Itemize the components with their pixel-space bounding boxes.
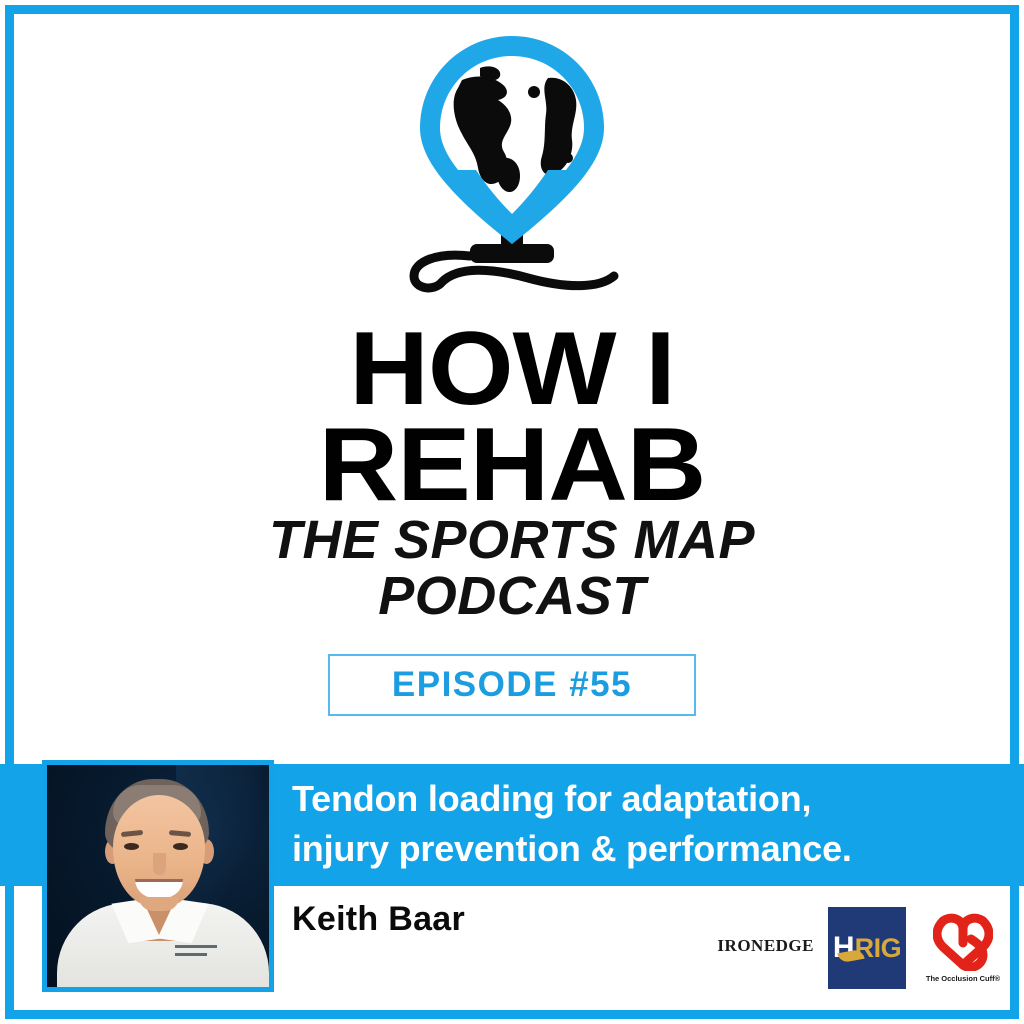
hrig-logo: H RIG	[828, 907, 906, 989]
podcast-subtitle: THE SPORTS MAP PODCAST	[0, 512, 1024, 624]
guest-shirt-crest	[175, 941, 217, 961]
occlusion-cuff-logo: The Occlusion Cuff®	[920, 902, 1006, 994]
episode-title-line-2: injury prevention & performance.	[292, 824, 992, 874]
guest-name: Keith Baar	[292, 900, 465, 939]
occlusion-cuff-knot-icon	[933, 913, 993, 971]
episode-badge: EPISODE #55	[328, 654, 696, 716]
podcast-wordmark: HOW I REHAB	[0, 322, 1024, 513]
guest-nose	[153, 853, 166, 875]
wordmark-line-2: REHAB	[0, 418, 1024, 514]
episode-title: Tendon loading for adaptation, injury pr…	[292, 774, 992, 873]
sponsor-logos: IRONEDGE H RIG The Occlusion Cuff®	[717, 896, 1006, 1000]
ironedge-logo: IRONEDGE	[717, 936, 814, 960]
guest-photo	[42, 760, 274, 992]
guest-eye-right	[173, 843, 188, 850]
subtitle-line-1: THE SPORTS MAP	[0, 512, 1024, 568]
episode-title-line-1: Tendon loading for adaptation,	[292, 774, 992, 824]
wordmark-line-1: HOW I	[0, 322, 1024, 418]
guest-eye-left	[124, 843, 139, 850]
map-pin-globe-microphone-logo	[362, 30, 662, 320]
podcast-cover-art: HOW I REHAB THE SPORTS MAP PODCAST EPISO…	[0, 0, 1024, 1024]
subtitle-line-2: PODCAST	[0, 568, 1024, 624]
occlusion-cuff-caption: The Occlusion Cuff®	[926, 974, 1000, 983]
episode-badge-label: EPISODE #55	[392, 665, 632, 705]
